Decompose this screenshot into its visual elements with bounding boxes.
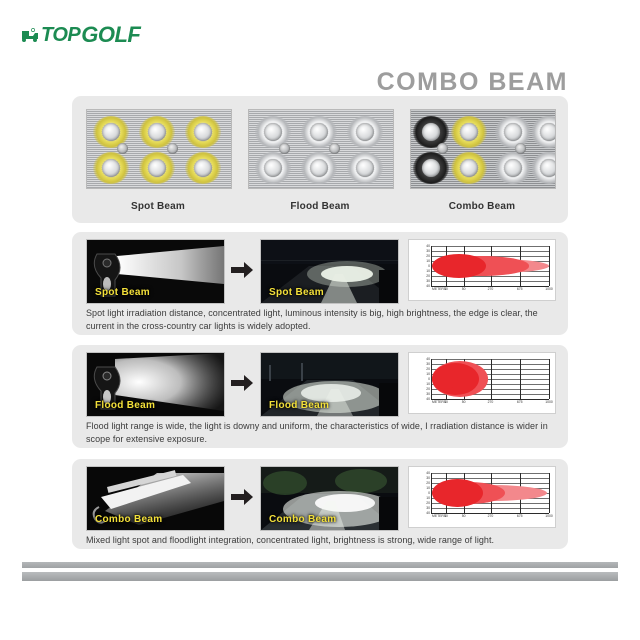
x-tick: 675 (517, 514, 523, 518)
y-tick: 20 (426, 274, 430, 278)
section-combo-beam: Combo Beam Combo Beam (72, 459, 568, 549)
x-tick: 50 (462, 400, 466, 404)
flood-lamp-beam-photo: Flood Beam (86, 352, 225, 417)
product-caption: Spot Beam (86, 201, 230, 212)
product-combo-beam: Combo Beam (410, 109, 554, 212)
spot-lamp-beam-photo: Spot Beam (86, 239, 225, 304)
flood-beam-caption: Flood light range is wide, the light is … (86, 420, 554, 446)
combo-road-night-photo: Combo Beam (260, 466, 399, 531)
flood-beam-plot: 40 30 20 10 0 10 20 30 40 METERS 10 50 2… (431, 359, 549, 400)
spot-beam-led-photo (86, 109, 232, 189)
combo-beam-caption: Mixed light spot and floodlight integrat… (86, 534, 554, 547)
y-tick: 0 (428, 491, 430, 495)
combo-beam-led-photo (410, 109, 556, 189)
lamp-badge: Spot Beam (95, 287, 150, 298)
x-tick: 270 (488, 514, 494, 518)
y-tick: 10 (426, 382, 430, 386)
y-tick: 10 (426, 269, 430, 273)
y-tick: 20 (426, 387, 430, 391)
road-badge: Spot Beam (269, 287, 324, 298)
y-tick: 40 (426, 284, 430, 288)
flood-road-night-photo: Flood Beam (260, 352, 399, 417)
y-tick: 30 (426, 362, 430, 366)
y-tick: 40 (426, 357, 430, 361)
flood-beam-chart: 40 30 20 10 0 10 20 30 40 METERS 10 50 2… (408, 352, 556, 414)
x-tick: 270 (488, 287, 494, 291)
product-spot-beam: Spot Beam (86, 109, 230, 212)
lamp-badge: Combo Beam (95, 514, 162, 525)
section-spot-beam: Spot Beam Spot Beam (72, 232, 568, 335)
product-comparison-panel: Spot Beam Flood Beam (72, 96, 568, 223)
arrow-right-icon (231, 375, 253, 393)
y-tick: 10 (426, 496, 430, 500)
arrow-right-icon (231, 489, 253, 507)
y-tick: 0 (428, 264, 430, 268)
x-tick: 675 (517, 400, 523, 404)
y-tick: 20 (426, 254, 430, 258)
y-tick: 40 (426, 511, 430, 515)
product-flood-beam: Flood Beam (248, 109, 392, 212)
x-tick: 10 (444, 514, 448, 518)
brand-word-top: TOP (41, 24, 80, 47)
lamp-badge: Flood Beam (95, 400, 155, 411)
combo-beam-plot: 40 30 20 10 0 10 20 30 40 METERS 10 50 2… (431, 473, 549, 514)
arrow-right-icon (231, 262, 253, 280)
product-caption: Flood Beam (248, 201, 392, 212)
road-badge: Combo Beam (269, 514, 336, 525)
y-tick: 40 (426, 471, 430, 475)
spot-beam-chart: 40 30 20 10 0 10 20 30 40 METERS 10 50 2… (408, 239, 556, 301)
flood-beam-led-photo (248, 109, 394, 189)
y-tick: 10 (426, 486, 430, 490)
spot-beam-plot: 40 30 20 10 0 10 20 30 40 METERS 10 50 2… (431, 246, 549, 287)
x-tick: 10 (444, 287, 448, 291)
road-badge: Flood Beam (269, 400, 329, 411)
footer-bar-bottom (22, 572, 618, 581)
footer-bar-top (22, 562, 618, 568)
x-tick: 10 (444, 400, 448, 404)
y-tick: 30 (426, 279, 430, 283)
spot-road-night-photo: Spot Beam (260, 239, 399, 304)
golf-cart-icon (20, 27, 40, 43)
section-flood-beam: Flood Beam Flood Beam (72, 345, 568, 448)
y-tick: 30 (426, 392, 430, 396)
x-tick: 50 (462, 287, 466, 291)
x-tick: 50 (462, 514, 466, 518)
y-tick: 20 (426, 501, 430, 505)
x-tick: 1000 (545, 400, 553, 404)
y-tick: 30 (426, 249, 430, 253)
x-tick: 675 (517, 287, 523, 291)
combo-beam-chart: 40 30 20 10 0 10 20 30 40 METERS 10 50 2… (408, 466, 556, 528)
y-tick: 40 (426, 397, 430, 401)
spot-beam-caption: Spot light irradiation distance, concent… (86, 307, 554, 333)
y-tick: 30 (426, 506, 430, 510)
y-tick: 30 (426, 476, 430, 480)
combo-lamp-beam-photo: Combo Beam (86, 466, 225, 531)
y-tick: 40 (426, 244, 430, 248)
y-tick: 0 (428, 377, 430, 381)
brand-logo: TOP GOLF (20, 22, 140, 48)
page-title: COMBO BEAM (377, 68, 568, 97)
product-caption: Combo Beam (410, 201, 554, 212)
y-tick: 10 (426, 259, 430, 263)
x-tick: 1000 (545, 514, 553, 518)
brand-word-golf: GOLF (81, 22, 140, 48)
y-tick: 20 (426, 367, 430, 371)
x-tick: 270 (488, 400, 494, 404)
y-tick: 10 (426, 372, 430, 376)
y-tick: 20 (426, 481, 430, 485)
x-tick: 1000 (545, 287, 553, 291)
